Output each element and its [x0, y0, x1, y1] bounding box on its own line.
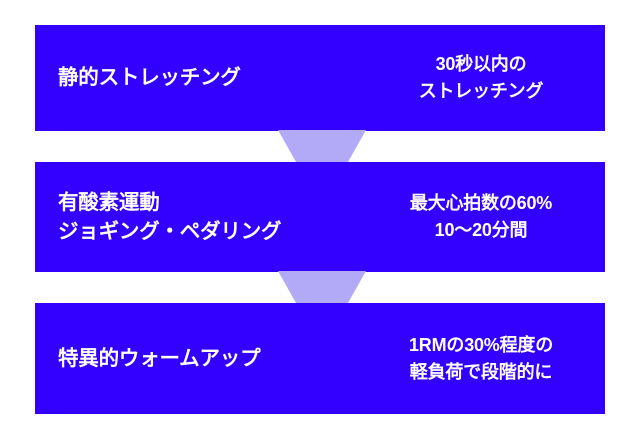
flow-step-3: 特異的ウォームアップ 1RMの30%程度の 軽負荷で段階的に [35, 303, 605, 414]
flow-step-2: 有酸素運動 ジョギング・ペダリング 最大心拍数の60% 10～20分間 [35, 162, 605, 272]
flow-step-1-label: 静的ストレッチング [35, 63, 375, 92]
flow-step-3-label: 特異的ウォームアップ [35, 344, 375, 373]
flow-step-1: 静的ストレッチング 30秒以内の ストレッチング [35, 25, 605, 131]
flow-connector-2-icon [272, 271, 372, 303]
flow-connector-1-icon [272, 130, 372, 162]
warmup-flow-diagram: 静的ストレッチング 30秒以内の ストレッチング 有酸素運動 ジョギング・ペダリ… [0, 0, 640, 434]
flow-step-2-label: 有酸素運動 ジョギング・ペダリング [35, 188, 375, 246]
flow-step-1-detail: 30秒以内の ストレッチング [375, 51, 605, 105]
flow-step-2-detail: 最大心拍数の60% 10～20分間 [375, 190, 605, 244]
flow-step-3-detail: 1RMの30%程度の 軽負荷で段階的に [375, 332, 605, 386]
